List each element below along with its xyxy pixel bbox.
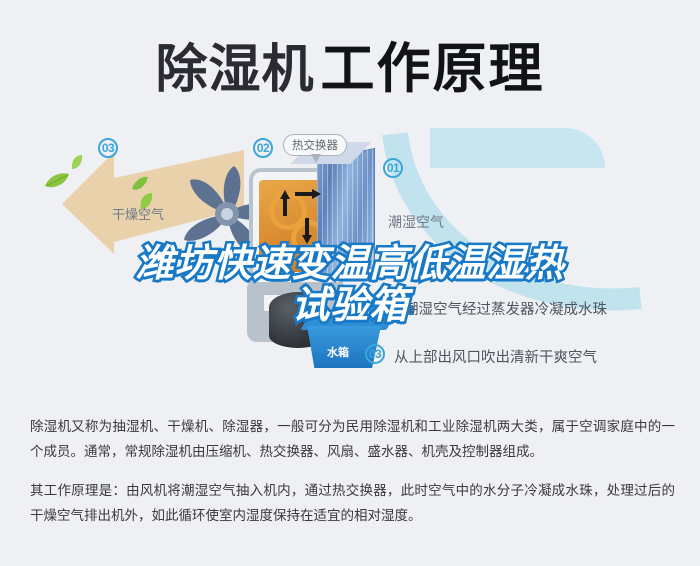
moist-air-label: 潮湿空气 bbox=[388, 212, 444, 232]
description-paragraph-2: 其工作原理是：由风机将潮湿空气抽入机内，通过热交换器，此时空气中的水分子冷凝成水… bbox=[30, 478, 675, 528]
badge-01: 01 bbox=[383, 158, 403, 178]
heat-exchanger-callout: 热交换器 bbox=[283, 134, 347, 156]
dry-air-label: 干燥空气 bbox=[112, 204, 164, 223]
leaf-icon bbox=[131, 176, 149, 192]
flow-arrow-up-icon bbox=[279, 190, 291, 216]
callout-tail-icon bbox=[311, 154, 321, 163]
flow-arrow-right-icon bbox=[295, 188, 321, 200]
step-line-03: 从上部出风口吹出清新干爽空气 bbox=[394, 346, 597, 367]
badge-03-left: 03 bbox=[98, 138, 118, 158]
leaf-icon bbox=[70, 154, 84, 170]
heat-exchanger-label: 热交换器 bbox=[292, 140, 338, 152]
description-text-block: 除湿机又称为抽湿机、干燥机、除湿器，一般可分为民用除湿机和工业除湿机两大类，属于… bbox=[30, 414, 675, 542]
evaporator-fins bbox=[317, 148, 375, 280]
step-line-02: 潮湿空气经过蒸发器冷凝成水珠 bbox=[404, 298, 607, 319]
dehumidifier-principle-diagram: 水箱 03 02 01 热交换器 干燥空气 潮湿空气 潮湿空气经过蒸发器冷凝成水… bbox=[0, 118, 700, 408]
badge-02: 02 bbox=[253, 138, 273, 158]
page-title-primary: 除湿机 bbox=[155, 41, 314, 99]
water-tank-label: 水箱 bbox=[327, 344, 349, 360]
description-paragraph-1: 除湿机又称为抽湿机、干燥机、除湿器，一般可分为民用除湿机和工业除湿机两大类，属于… bbox=[30, 414, 675, 464]
flow-arrow-down-icon bbox=[301, 218, 313, 244]
moist-air-stream-top-shape bbox=[430, 128, 605, 168]
leaf-icon bbox=[44, 172, 70, 190]
badge-03-right: 03 bbox=[365, 344, 385, 364]
page-title: 除湿机工作原理 bbox=[0, 24, 700, 103]
evaporator-block bbox=[317, 148, 375, 280]
page-title-secondary: 工作原理 bbox=[321, 39, 545, 99]
